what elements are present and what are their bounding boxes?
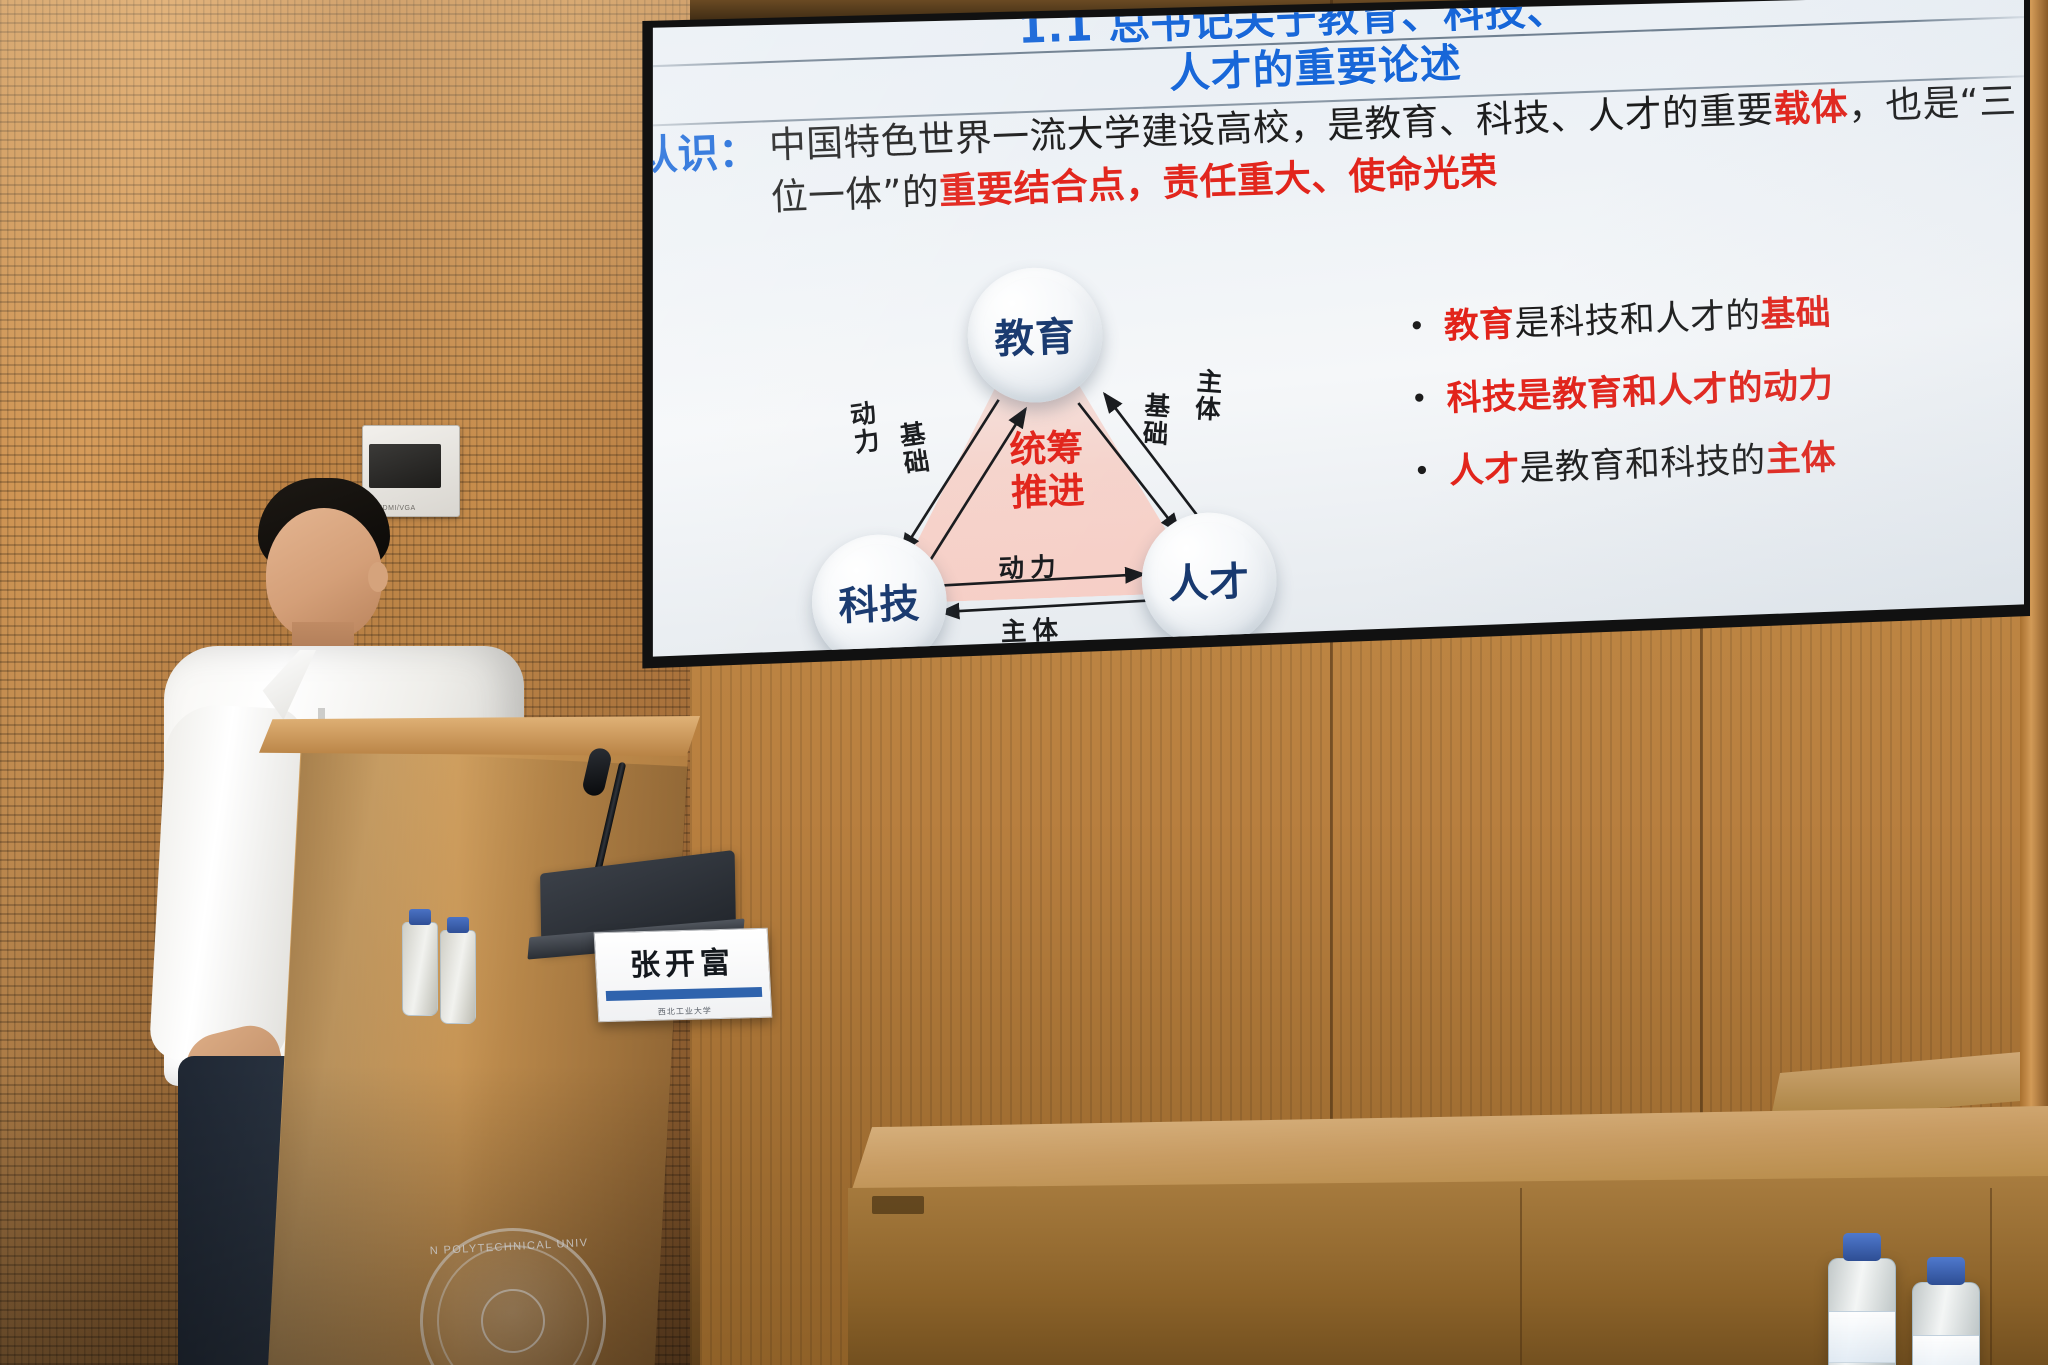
bottle-label bbox=[1829, 1311, 1895, 1363]
water-bottle-on-lectern bbox=[402, 922, 438, 1016]
diagram-center-text: 统筹 推进 bbox=[979, 426, 1115, 516]
nameplate-org-text: 西北工业大学 bbox=[599, 1004, 772, 1019]
slide-content: 1.1 总书记关于教育、科技、 人才的重要论述 认识： 中国特色世界一流大学建设… bbox=[646, 0, 2024, 680]
bullet-3-red-2: 主体 bbox=[1765, 437, 1837, 480]
bullet-1-red-1: 教育 bbox=[1443, 304, 1515, 347]
bullet-2-red-1: 科技是教育和人才的动力 bbox=[1446, 365, 1834, 420]
bottle-label bbox=[1913, 1335, 1979, 1365]
slide-bullet-list: • 教育是科技和人才的基础 • 科技是教育和人才的动力 • 人才是教育和科技的主… bbox=[1408, 285, 2024, 524]
nameplate-accent-bar bbox=[606, 987, 763, 1001]
paragraph-segment-2-red: 载体 bbox=[1773, 87, 1849, 131]
presentation-display: 1.1 总书记关于教育、科技、 人才的重要论述 认识： 中国特色世界一流大学建设… bbox=[646, 0, 2024, 680]
speaker-ear bbox=[368, 562, 388, 592]
table-panel-seam bbox=[1990, 1188, 1992, 1365]
edge-label-right-outer: 主体 bbox=[1186, 367, 1226, 424]
bullet-2-text: 科技是教育和人才的动力 bbox=[1446, 365, 1834, 420]
bottle-cap bbox=[1927, 1257, 1965, 1285]
bullet-item-2: • 科技是教育和人才的动力 bbox=[1410, 357, 2024, 421]
water-bottle-on-lectern bbox=[440, 930, 476, 1024]
bullet-dot-icon: • bbox=[1408, 307, 1427, 346]
bullet-3-red-1: 人才 bbox=[1449, 448, 1521, 491]
bottle-cap bbox=[447, 917, 469, 933]
bottle-cap bbox=[1843, 1233, 1881, 1261]
edge-label-right-inner: 基础 bbox=[1134, 391, 1174, 448]
speaker-nameplate: 张开富 西北工业大学 bbox=[594, 928, 773, 1022]
table-panel-seam bbox=[1520, 1188, 1522, 1365]
bullet-3-black: 是教育和科技的 bbox=[1519, 439, 1767, 489]
bullet-dot-icon: • bbox=[1413, 451, 1432, 490]
bullet-item-3: • 人才是教育和科技的主体 bbox=[1413, 429, 2024, 493]
water-bottle-on-table bbox=[1828, 1258, 1896, 1365]
bullet-dot-icon: • bbox=[1410, 379, 1429, 418]
recognition-label: 认识： bbox=[646, 119, 760, 183]
bullet-1-text: 教育是科技和人才的基础 bbox=[1443, 292, 1831, 347]
table-cable-notch bbox=[872, 1196, 924, 1214]
edge-label-bottom-top: 动力 bbox=[998, 547, 1063, 586]
triad-diagram: 教育 科技 人才 统筹 推进 动力 基础 基础 主体 动力 主体 bbox=[794, 265, 1287, 680]
presentation-photo-scene: HDMI/VGA 1.1 总书记关于教育、科技、 人才的重要论述 认识： 中国特… bbox=[0, 0, 2048, 1365]
bullet-item-1: • 教育是科技和人才的基础 bbox=[1408, 285, 2024, 349]
nameplate-name-text: 张开富 bbox=[595, 937, 769, 985]
speaker-arm bbox=[149, 703, 303, 1066]
center-text-line-1: 统筹 bbox=[979, 426, 1113, 473]
paragraph-segment-4-red: 重要结合点，责任重大、使命光荣 bbox=[939, 152, 1499, 214]
bullet-3-text: 人才是教育和科技的主体 bbox=[1449, 437, 1837, 492]
edge-label-left-inner: 基础 bbox=[891, 419, 935, 479]
bullet-1-red-2: 基础 bbox=[1760, 292, 1832, 335]
floor-shadow bbox=[0, 1065, 700, 1365]
water-bottle-on-table bbox=[1912, 1282, 1980, 1365]
edge-label-left-outer: 动力 bbox=[841, 398, 885, 458]
center-text-line-2: 推进 bbox=[981, 469, 1115, 516]
bottle-cap bbox=[409, 909, 431, 925]
lectern-top-surface bbox=[250, 716, 700, 756]
speaker-head bbox=[266, 508, 382, 640]
bullet-1-black: 是科技和人才的 bbox=[1514, 295, 1762, 345]
